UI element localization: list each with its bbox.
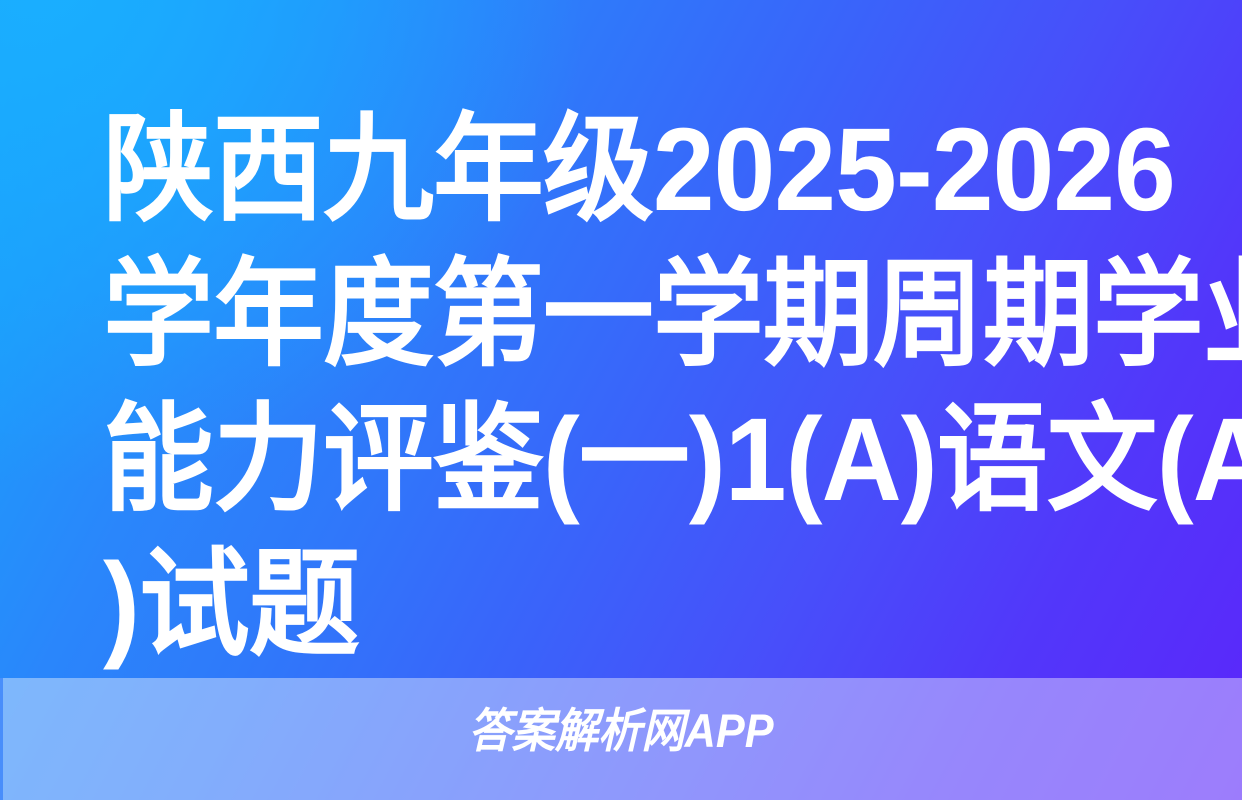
watermark-label: 答案解析网APP xyxy=(50,700,1193,762)
watermark-band-left-edge xyxy=(0,678,3,800)
title-line-2: 学年度第一学期周期学业 xyxy=(103,243,1114,388)
exam-title-card: 陕西九年级2025-2026 学年度第一学期周期学业 能力评鉴(一)1(A)语文… xyxy=(0,0,1242,800)
title-line-3: 能力评鉴(一)1(A)语文(A xyxy=(103,388,1114,533)
title-line-1: 陕西九年级2025-2026 xyxy=(103,98,1114,243)
title-line-4: )试题 xyxy=(103,533,1114,678)
title-block: 陕西九年级2025-2026 学年度第一学期周期学业 能力评鉴(一)1(A)语文… xyxy=(103,98,1178,678)
